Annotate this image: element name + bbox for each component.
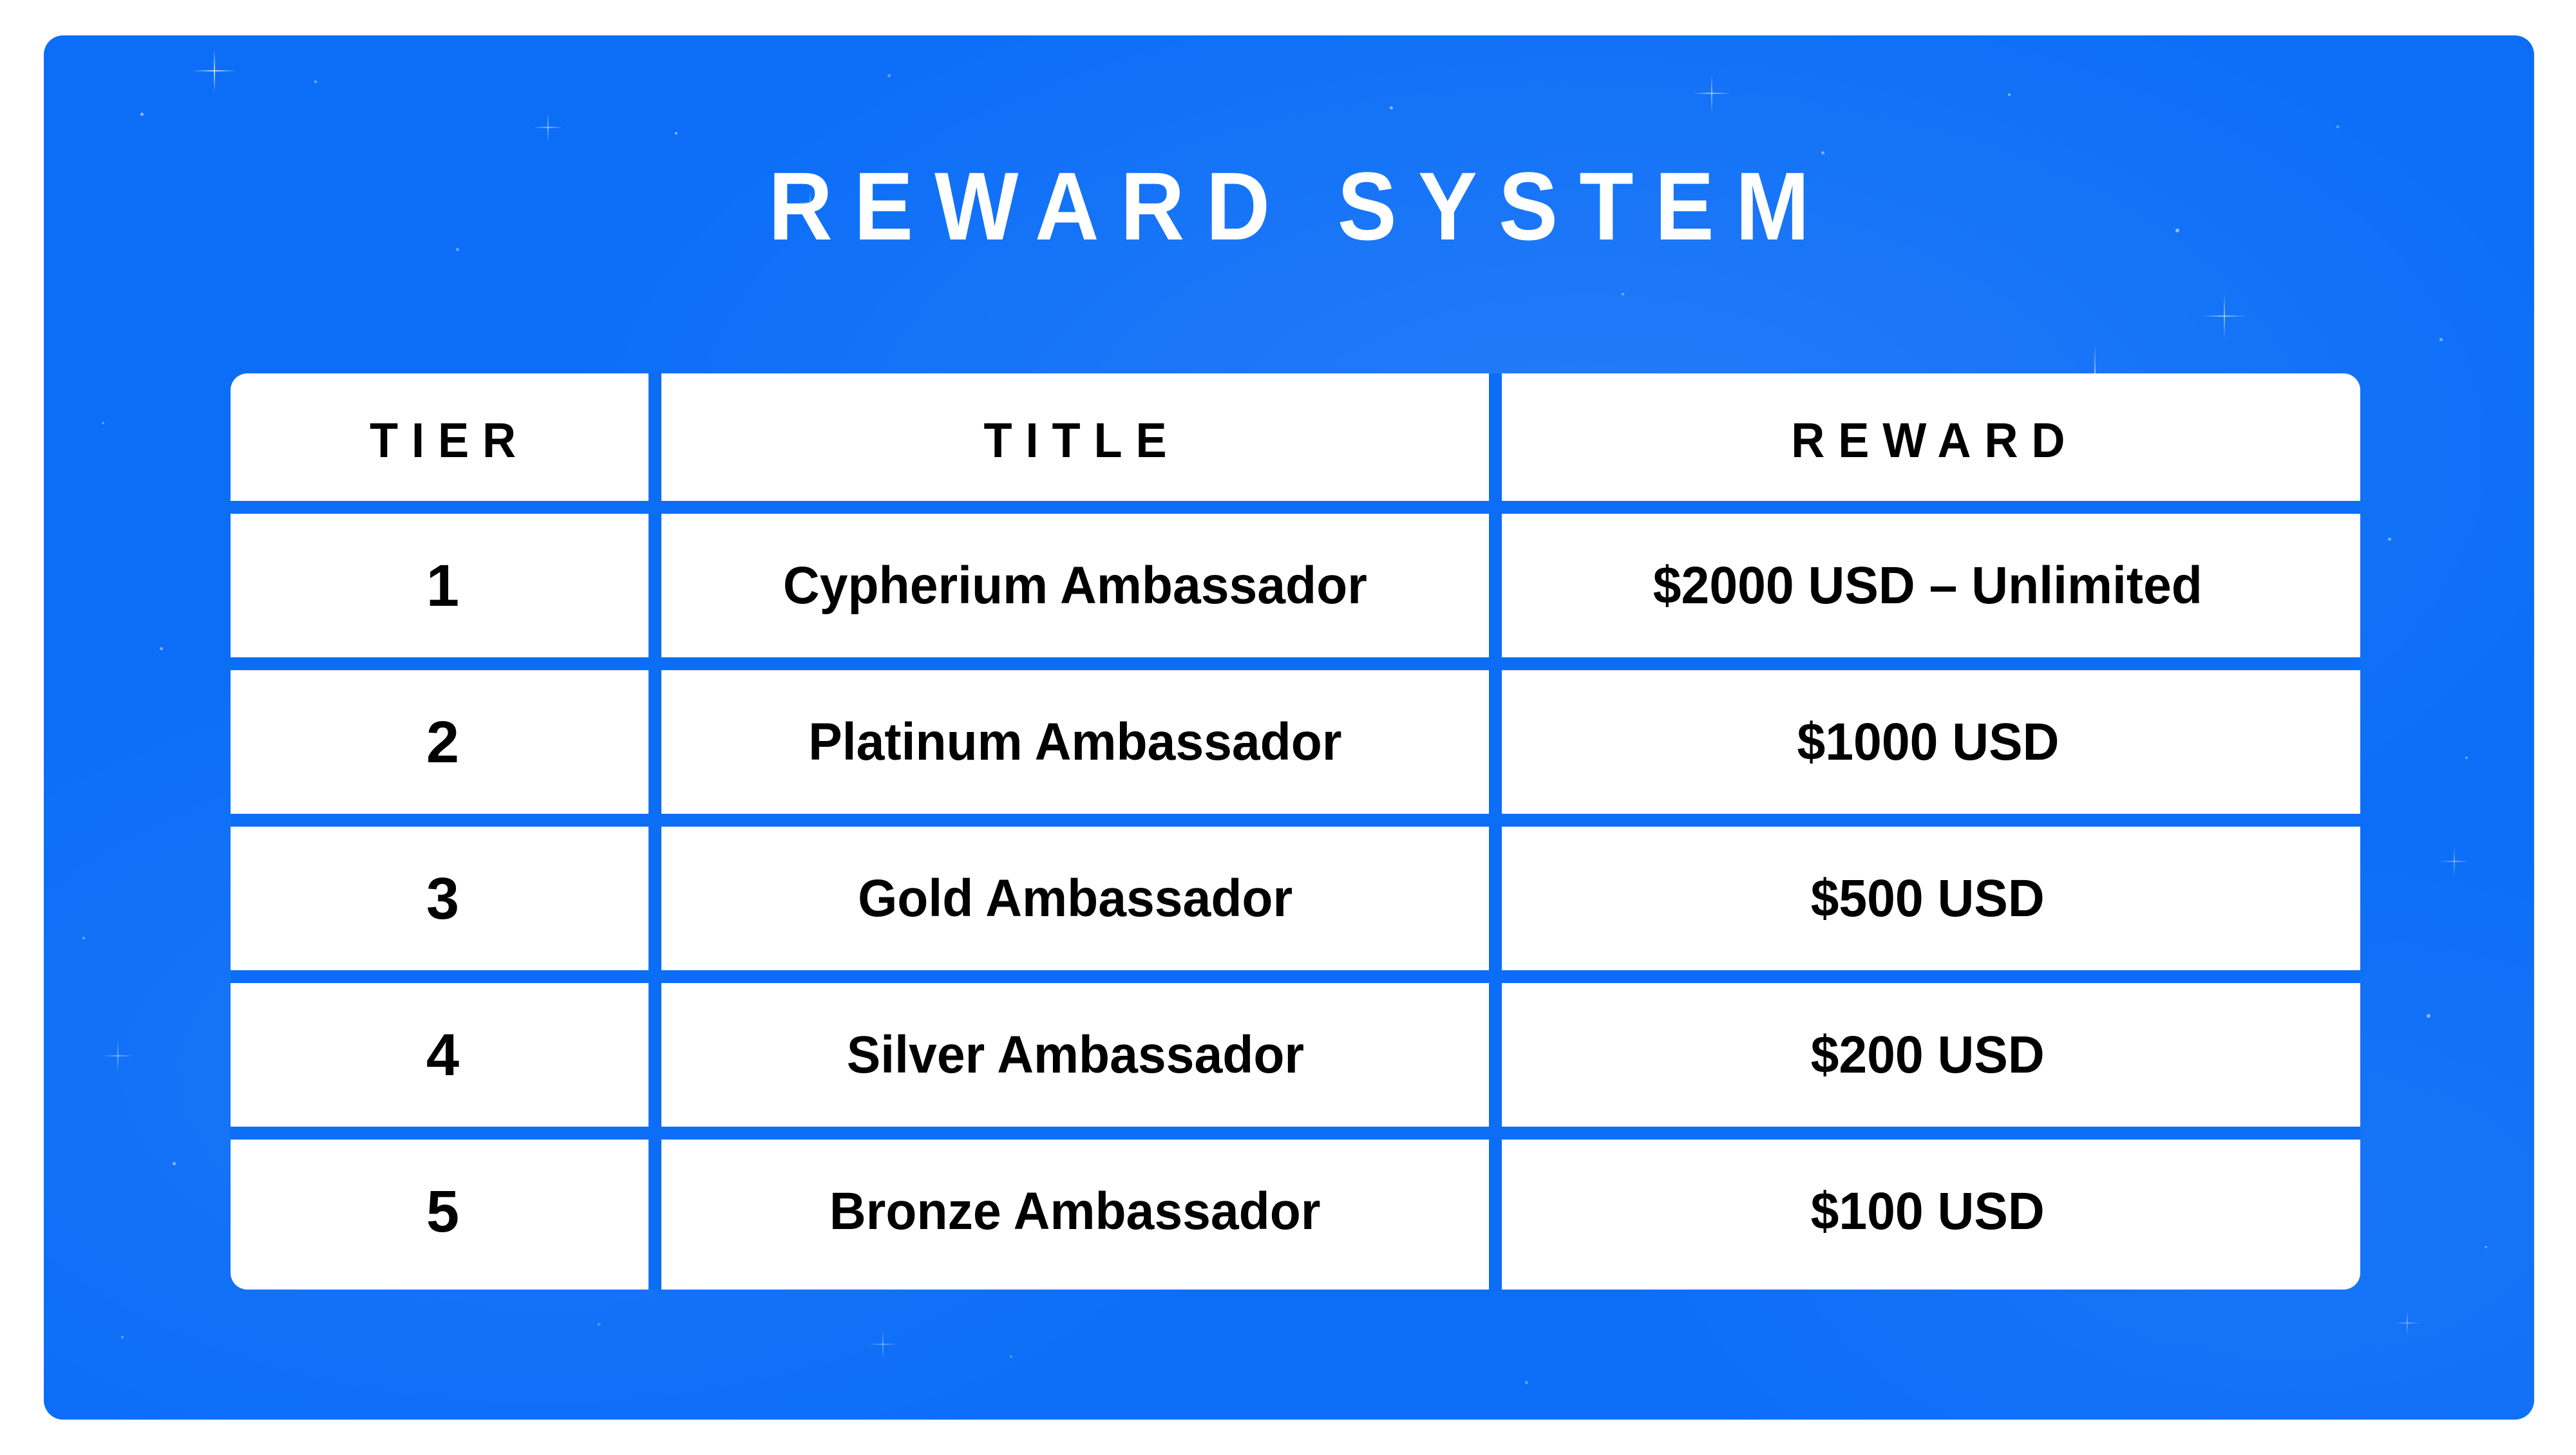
tier-reward: $100 USD xyxy=(1811,1185,2045,1238)
table-row: 2 Platinum Ambassador $1000 USD xyxy=(231,664,2360,820)
table-row: 5 Bronze Ambassador $100 USD xyxy=(231,1133,2360,1290)
tier-reward: $2000 USD – Unlimited xyxy=(1653,559,2202,612)
cell-reward: $200 USD xyxy=(1495,977,2360,1133)
table-row: 3 Gold Ambassador $500 USD xyxy=(231,820,2360,977)
tier-reward: $500 USD xyxy=(1811,872,2045,925)
cell-title: Cypherium Ambassador xyxy=(655,507,1495,664)
header-cell-tier: TIER xyxy=(231,373,655,507)
reward-table: TIER TITLE REWARD 1 Cypherium Ambassador… xyxy=(231,373,2360,1290)
sparkle-icon xyxy=(2201,293,2248,339)
tier-number: 4 xyxy=(426,1026,459,1085)
table-row: 1 Cypherium Ambassador $2000 USD – Unlim… xyxy=(231,507,2360,664)
cell-tier: 3 xyxy=(231,820,655,977)
tier-title: Silver Ambassador xyxy=(846,1029,1303,1082)
cell-title: Silver Ambassador xyxy=(655,977,1495,1133)
tier-number: 3 xyxy=(426,869,459,928)
table-header-row: TIER TITLE REWARD xyxy=(231,373,2360,507)
tier-reward: $1000 USD xyxy=(1797,716,2059,769)
tier-number: 1 xyxy=(426,556,459,615)
sparkle-icon xyxy=(102,1040,134,1072)
tier-title: Bronze Ambassador xyxy=(829,1185,1321,1238)
page-title: REWARD SYSTEM xyxy=(144,158,2435,254)
sparkle-icon xyxy=(2394,1310,2420,1336)
header-label-reward: REWARD xyxy=(1777,413,2078,469)
header-cell-title: TITLE xyxy=(655,373,1495,507)
cell-tier: 1 xyxy=(231,507,655,664)
sparkle-icon xyxy=(2439,847,2469,876)
cell-tier: 4 xyxy=(231,977,655,1133)
cell-title: Platinum Ambassador xyxy=(655,664,1495,820)
header-label-title: TITLE xyxy=(971,413,1180,469)
sparkle-icon xyxy=(868,1329,898,1359)
table-row: 4 Silver Ambassador $200 USD xyxy=(231,977,2360,1133)
cell-tier: 5 xyxy=(231,1133,655,1290)
cell-reward: $2000 USD – Unlimited xyxy=(1495,507,2360,664)
cell-title: Bronze Ambassador xyxy=(655,1133,1495,1290)
tier-number: 5 xyxy=(426,1182,459,1241)
sparkle-icon xyxy=(533,113,563,142)
reward-system-card: REWARD SYSTEM TIER TITLE REWARD 1 Cypher… xyxy=(44,35,2534,1420)
header-cell-reward: REWARD xyxy=(1495,373,2360,507)
cell-title: Gold Ambassador xyxy=(655,820,1495,977)
sparkle-icon xyxy=(192,48,237,93)
cell-reward: $100 USD xyxy=(1495,1133,2360,1290)
cell-tier: 2 xyxy=(231,664,655,820)
cell-reward: $500 USD xyxy=(1495,820,2360,977)
tier-title: Cypherium Ambassador xyxy=(783,559,1367,612)
tier-number: 2 xyxy=(426,713,459,772)
cell-reward: $1000 USD xyxy=(1495,664,2360,820)
tier-reward: $200 USD xyxy=(1811,1029,2045,1082)
header-label-tier: TIER xyxy=(356,413,529,469)
sparkle-icon xyxy=(1692,74,1731,113)
tier-title: Gold Ambassador xyxy=(858,872,1293,925)
tier-title: Platinum Ambassador xyxy=(808,716,1341,769)
